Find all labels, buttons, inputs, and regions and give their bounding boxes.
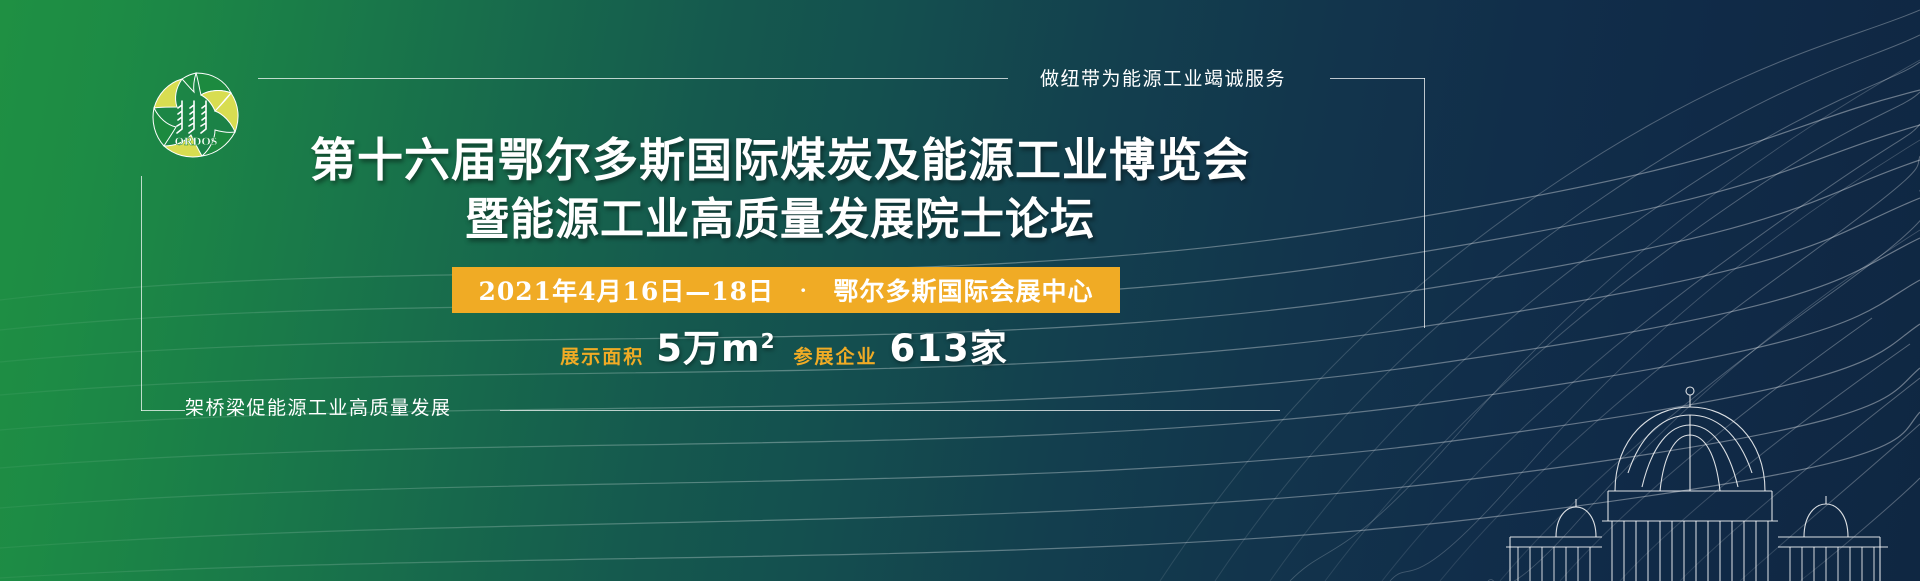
expo-banner: ORDOS 做纽带为能源工业竭诚服务 架桥梁促能源工业高质量发展 第十六届鄂尔多… [0,0,1920,581]
event-venue: 鄂尔多斯国际会展中心 [833,277,1093,306]
stat-exhibitor-count: 参展企业 613家 [794,318,1012,374]
title-line-1: 第十六届鄂尔多斯国际煤炭及能源工业博览会 [0,132,1560,188]
stat-label-area: 展示面积 [560,342,644,374]
frame-line-bottom-left [141,410,185,411]
tagline-top-right: 做纽带为能源工业竭诚服务 [1040,64,1286,91]
frame-line-top-left [258,78,1008,79]
stat-number-exhibitors: 613家 [890,327,1008,370]
exhibition-center-dome-illustration [1360,361,1920,581]
title-block: 第十六届鄂尔多斯国际煤炭及能源工业博览会 暨能源工业高质量发展院士论坛 [0,132,1560,248]
stat-value-exhibitors: 613家 [886,318,1012,374]
event-date: 2021年4月16日—18日 [479,277,775,306]
date-venue-text: 2021年4月16日—18日 · 鄂尔多斯国际会展中心 [479,272,1094,308]
stat-number-area: 5万m [656,327,760,370]
stat-value-area: 5万m2 [652,318,779,374]
frame-line-top-right [1330,78,1425,79]
frame-line-bottom-right [500,410,1280,411]
stat-exhibition-area: 展示面积 5万m2 [560,318,779,374]
stat-label-exhibitors: 参展企业 [794,342,878,374]
date-venue-bar: 2021年4月16日—18日 · 鄂尔多斯国际会展中心 [452,267,1120,313]
date-venue-separator: · [784,278,824,302]
stat-superscript-area: 2 [761,329,776,353]
tagline-bottom-left: 架桥梁促能源工业高质量发展 [185,393,452,420]
stats-row: 展示面积 5万m2 参展企业 613家 [452,326,1120,374]
title-line-2: 暨能源工业高质量发展院士论坛 [0,192,1560,248]
